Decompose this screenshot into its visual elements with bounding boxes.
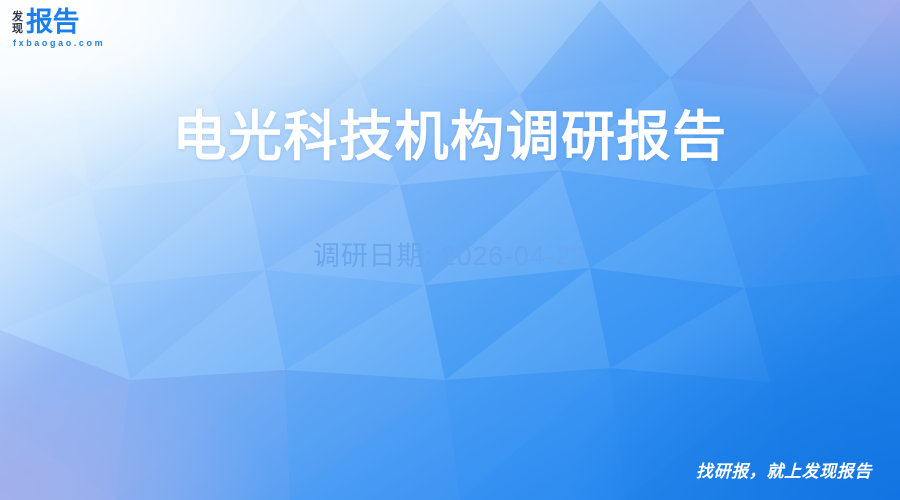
logo-mark-characters: 发 现 [12,11,23,36]
survey-date-subtitle: 调研日期: 2026-04-23 [0,234,900,273]
logo-wordmark: 报告 [26,8,79,36]
logo-domain-text: fxbaogao.com [13,39,105,48]
logo-mark-line-2: 现 [12,23,23,35]
brand-logo[interactable]: 发 现 报告 fxbaogao.com [12,8,105,48]
logo-mark-line-1: 发 [12,11,23,23]
report-cover-slide: 发 现 报告 fxbaogao.com 电光科技机构调研报告 调研日期: 202… [0,0,900,500]
logo-row: 发 现 报告 [12,8,79,36]
page-title: 电光科技机构调研报告 [0,92,900,171]
footer-tagline: 找研报，就上发现报告 [696,457,872,482]
